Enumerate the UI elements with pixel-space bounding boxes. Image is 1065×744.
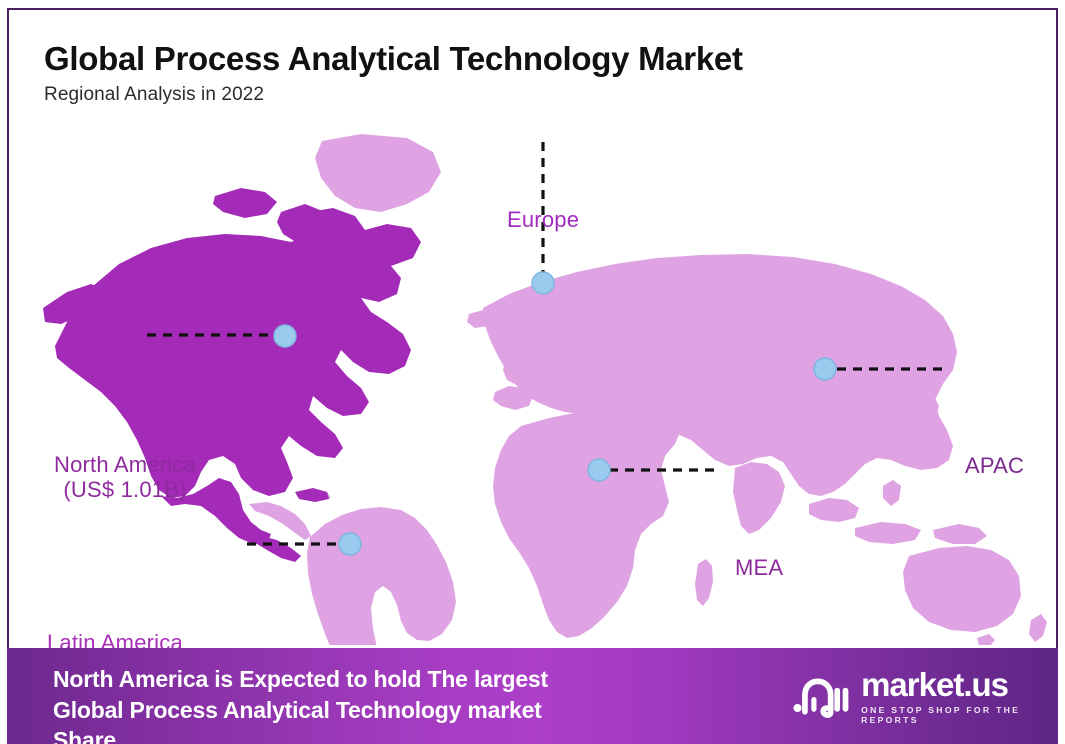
region-indonesia-2	[855, 522, 921, 544]
world-map-container: Europe APAC MEA North America (US$ 1.01B…	[9, 100, 1057, 645]
region-new-guinea	[933, 524, 987, 544]
region-label-north-america: North America (US$ 1.01B)	[25, 452, 225, 503]
world-map	[9, 100, 1057, 645]
region-india	[733, 462, 785, 534]
region-tasmania	[977, 634, 995, 645]
region-label-mea-text: MEA	[735, 555, 783, 580]
region-label-mea: MEA	[735, 555, 783, 580]
region-label-apac-text: APAC	[965, 453, 1024, 478]
region-arctic-islands-highlight	[213, 188, 277, 218]
region-label-europe: Europe	[507, 207, 579, 232]
market-us-logo-icon	[792, 673, 849, 721]
market-us-logo[interactable]: market.us ONE STOP SHOP FOR THE REPORTS	[792, 668, 1065, 725]
region-greenland	[315, 134, 441, 212]
marker-north-america	[274, 325, 296, 347]
marker-mea	[588, 459, 610, 481]
map-highlight-regions	[43, 188, 421, 562]
region-cuba-highlight	[295, 488, 329, 502]
region-label-apac: APAC	[965, 453, 1024, 478]
map-base-regions	[249, 134, 1047, 645]
banner-line-1: North America is Expected to hold The la…	[53, 664, 693, 695]
region-sea-indonesia	[809, 498, 859, 522]
region-value-north-america: (US$ 1.01B)	[25, 477, 225, 502]
region-centam-highlight	[257, 536, 301, 562]
logo-tagline: ONE STOP SHOP FOR THE REPORTS	[861, 705, 1065, 725]
region-madagascar	[695, 559, 713, 606]
page-title: Global Process Analytical Technology Mar…	[44, 42, 944, 77]
banner-line-2: Global Process Analytical Technology mar…	[53, 695, 693, 726]
marker-europe	[532, 272, 554, 294]
region-africa	[493, 406, 681, 638]
header: Global Process Analytical Technology Mar…	[44, 42, 944, 106]
logo-wordmark: market.us	[861, 668, 1065, 701]
region-new-zealand	[1029, 614, 1047, 642]
banner-line-3: Share	[53, 725, 693, 744]
region-label-europe-text: Europe	[507, 207, 579, 232]
region-australia	[903, 546, 1021, 632]
marker-apac	[814, 358, 836, 380]
marker-latin-america	[339, 533, 361, 555]
infographic-card: Global Process Analytical Technology Mar…	[0, 0, 1065, 744]
region-philippines	[883, 480, 901, 506]
right-margin-strip	[1060, 0, 1065, 744]
banner-message: North America is Expected to hold The la…	[53, 664, 693, 744]
left-margin-strip	[0, 0, 7, 744]
logo-wordmark-group: market.us ONE STOP SHOP FOR THE REPORTS	[861, 668, 1065, 725]
region-label-north-america-text: North America	[54, 452, 196, 477]
region-south-america	[307, 507, 456, 645]
